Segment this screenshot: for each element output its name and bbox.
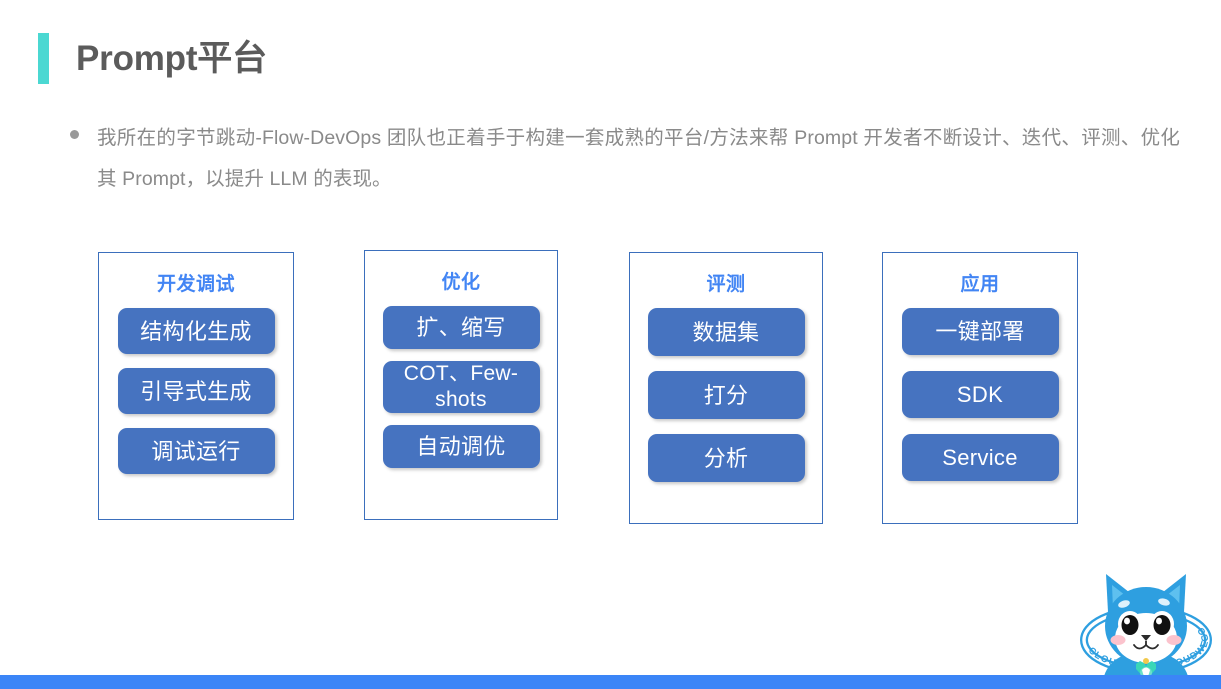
card-pill[interactable]: 引导式生成 [118,368,275,414]
bullet-paragraph: 我所在的字节跳动-Flow-DevOps 团队也正着手于构建一套成熟的平台/方法… [70,118,1180,200]
footer-bar [0,675,1221,689]
card-pill[interactable]: 扩、缩写 [383,306,540,349]
card-title: 优化 [441,273,480,292]
card-pill[interactable]: SDK [902,371,1059,418]
card-title: 评测 [706,275,745,294]
page-title-row: Prompt平台 [38,33,267,84]
card-optimization[interactable]: 优化 扩、缩写 COT、Few-shots 自动调优 [364,250,558,520]
bullet-text: 我所在的字节跳动-Flow-DevOps 团队也正着手于构建一套成熟的平台/方法… [97,118,1180,200]
title-accent-bar [38,33,49,84]
card-pill[interactable]: 调试运行 [118,428,275,474]
card-title: 应用 [960,275,999,294]
card-pill-stack: 扩、缩写 COT、Few-shots 自动调优 [365,306,557,468]
card-title: 开发调试 [157,275,235,294]
card-application[interactable]: 应用 一键部署 SDK Service [882,252,1078,524]
card-pill-stack: 数据集 打分 分析 [630,308,822,482]
cloudwego-mascot-icon: CLOUDWEGO CLOUDWEGO [1072,566,1220,689]
card-pill[interactable]: 数据集 [648,308,805,356]
slide-canvas: Prompt平台 我所在的字节跳动-Flow-DevOps 团队也正着手于构建一… [0,0,1221,689]
card-pill[interactable]: Service [902,434,1059,481]
card-pill[interactable]: 打分 [648,371,805,419]
page-title: Prompt平台 [76,41,267,76]
card-pill[interactable]: 分析 [648,434,805,482]
card-pill[interactable]: 结构化生成 [118,308,275,354]
card-evaluation[interactable]: 评测 数据集 打分 分析 [629,252,823,524]
card-pill[interactable]: 一键部署 [902,308,1059,355]
card-pill-stack: 一键部署 SDK Service [883,308,1077,481]
card-pill[interactable]: COT、Few-shots [383,361,540,413]
bullet-dot-icon [70,130,79,139]
card-pill-stack: 结构化生成 引导式生成 调试运行 [99,308,293,474]
card-pill[interactable]: 自动调优 [383,425,540,468]
card-development-debug[interactable]: 开发调试 结构化生成 引导式生成 调试运行 [98,252,294,520]
